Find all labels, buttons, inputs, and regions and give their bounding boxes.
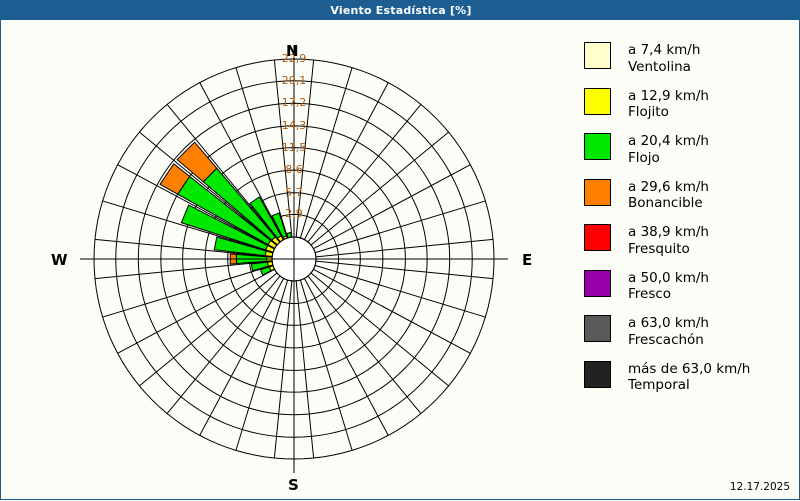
legend-color-swatch	[584, 88, 611, 115]
legend-label-speed: a 7,4 km/h	[628, 42, 700, 58]
legend-label-name: Flojito	[628, 104, 709, 121]
legend-label-speed: a 20,4 km/h	[628, 133, 709, 149]
legend-color-swatch	[584, 270, 611, 297]
legend-item[interactable]: a 29,6 km/hBonancible	[584, 179, 709, 212]
legend-item[interactable]: a 20,4 km/hFlojo	[584, 133, 709, 166]
legend-label-name: Fresquito	[628, 241, 709, 258]
legend-label-speed: a 50,0 km/h	[628, 270, 709, 286]
legend-label: a 38,9 km/hFresquito	[628, 224, 709, 257]
legend-label: a 20,4 km/hFlojo	[628, 133, 709, 166]
window-title-bar: Viento Estadística [%]	[1, 1, 800, 20]
legend-color-swatch	[584, 361, 611, 388]
legend-item[interactable]: a 12,9 km/hFlojito	[584, 88, 709, 121]
radial-tick-label: 5,7	[270, 186, 318, 199]
legend-label-speed: a 29,6 km/h	[628, 179, 709, 195]
compass-label-east: E	[522, 251, 532, 269]
legend-label-name: Temporal	[628, 377, 750, 394]
legend-label-name: Frescachón	[628, 332, 709, 349]
legend-label-speed: más de 63,0 km/h	[628, 361, 750, 377]
legend-color-swatch	[584, 315, 611, 342]
legend-label-speed: a 12,9 km/h	[628, 88, 709, 104]
legend-label-speed: a 63,0 km/h	[628, 315, 709, 331]
radial-tick-label: 11,5	[270, 141, 318, 154]
legend-label-name: Flojo	[628, 150, 709, 167]
legend-item[interactable]: a 50,0 km/hFresco	[584, 270, 709, 303]
legend-item[interactable]: a 38,9 km/hFresquito	[584, 224, 709, 257]
wind-rose-window: Viento Estadística [%] N E S W 2,95,78,6…	[0, 0, 800, 500]
legend-label: a 29,6 km/hBonancible	[628, 179, 709, 212]
legend-item[interactable]: a 63,0 km/hFrescachón	[584, 315, 709, 348]
wind-rose-chart: N E S W 2,95,78,611,514,317,220,122,9	[1, 20, 566, 501]
legend-label-name: Fresco	[628, 286, 709, 303]
legend: a 7,4 km/hVentolinaa 12,9 km/hFlojitoa 2…	[566, 20, 800, 501]
radial-tick-label: 14,3	[270, 119, 318, 132]
legend-label: a 12,9 km/hFlojito	[628, 88, 709, 121]
legend-label: a 63,0 km/hFrescachón	[628, 315, 709, 348]
compass-label-south: S	[288, 476, 299, 494]
radial-tick-label: 20,1	[270, 74, 318, 87]
radial-tick-label: 2,9	[270, 207, 318, 220]
legend-label-speed: a 38,9 km/h	[628, 224, 709, 240]
legend-color-swatch	[584, 42, 611, 69]
legend-color-swatch	[584, 133, 611, 160]
wind-rose-plot	[1, 20, 566, 501]
footer-date: 12.17.2025	[730, 481, 790, 493]
legend-color-swatch	[584, 179, 611, 206]
radial-tick-label: 22,9	[270, 52, 318, 65]
legend-item[interactable]: más de 63,0 km/hTemporal	[584, 361, 750, 394]
legend-label-name: Ventolina	[628, 59, 700, 76]
legend-label-name: Bonancible	[628, 195, 709, 212]
legend-item[interactable]: a 7,4 km/hVentolina	[584, 42, 700, 75]
window-title: Viento Estadística [%]	[330, 4, 471, 17]
radial-tick-label: 17,2	[270, 96, 318, 109]
radial-tick-label: 8,6	[270, 163, 318, 176]
legend-label: a 7,4 km/hVentolina	[628, 42, 700, 75]
legend-label: más de 63,0 km/hTemporal	[628, 361, 750, 394]
legend-label: a 50,0 km/hFresco	[628, 270, 709, 303]
legend-color-swatch	[584, 224, 611, 251]
compass-label-west: W	[51, 251, 68, 269]
